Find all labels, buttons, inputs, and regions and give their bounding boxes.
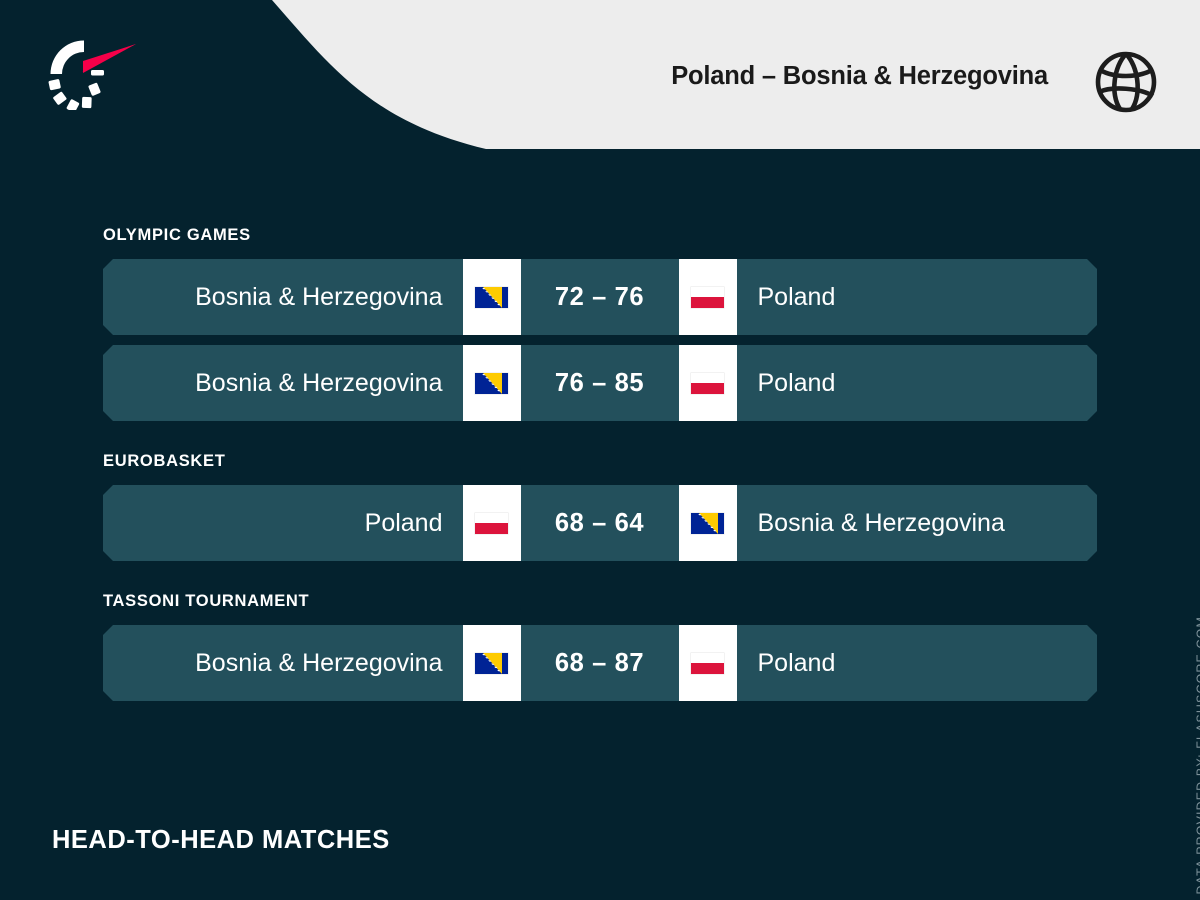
match-row[interactable]: Bosnia & Herzegovina xyxy=(103,259,1097,335)
match-score: 72 – 76 xyxy=(521,259,679,335)
section-eurobasket: EUROBASKET Poland 68 – 64 xyxy=(0,448,1200,561)
away-team: Poland xyxy=(737,625,1098,701)
section-rows: Bosnia & Herzegovina xyxy=(0,259,1200,421)
match-score: 68 – 87 xyxy=(521,625,679,701)
home-team: Bosnia & Herzegovina xyxy=(103,259,463,335)
page-title: Poland – Bosnia & Herzegovina xyxy=(671,0,1048,152)
home-flag-cell xyxy=(463,345,521,421)
away-team: Poland xyxy=(737,345,1098,421)
away-team-name: Poland xyxy=(758,648,836,679)
match-score: 76 – 85 xyxy=(521,345,679,421)
bosnia-herzegovina-flag xyxy=(475,373,508,394)
poland-flag xyxy=(691,287,724,308)
home-team-name: Bosnia & Herzegovina xyxy=(195,368,442,399)
away-team: Poland xyxy=(737,259,1098,335)
match-row[interactable]: Bosnia & Herzegovina xyxy=(103,345,1097,421)
page-header: Poland – Bosnia & Herzegovina xyxy=(0,0,1200,160)
home-flag-cell xyxy=(463,625,521,701)
match-score: 68 – 64 xyxy=(521,485,679,561)
footer-title: HEAD-TO-HEAD MATCHES xyxy=(52,826,390,855)
section-tassoni-tournament: TASSONI TOURNAMENT Bosnia & Herzegovina xyxy=(0,588,1200,701)
home-team: Poland xyxy=(103,485,463,561)
home-team-name: Bosnia & Herzegovina xyxy=(195,282,442,313)
basketball-icon xyxy=(1092,48,1160,116)
section-olympic-games: OLYMPIC GAMES Bosnia & Herzegovina xyxy=(0,222,1200,421)
home-flag-cell xyxy=(463,485,521,561)
poland-flag xyxy=(691,653,724,674)
away-flag-cell xyxy=(679,345,737,421)
flag-band-red xyxy=(691,383,724,394)
home-team-name: Bosnia & Herzegovina xyxy=(195,648,442,679)
poland-flag xyxy=(691,373,724,394)
away-flag-cell xyxy=(679,259,737,335)
away-flag-cell xyxy=(679,485,737,561)
section-label: TASSONI TOURNAMENT xyxy=(0,588,1200,614)
home-team: Bosnia & Herzegovina xyxy=(103,345,463,421)
section-label: OLYMPIC GAMES xyxy=(0,222,1200,248)
away-team: Bosnia & Herzegovina xyxy=(737,485,1098,561)
bosnia-herzegovina-flag xyxy=(475,287,508,308)
match-row[interactable]: Poland 68 – 64 xyxy=(103,485,1097,561)
match-row[interactable]: Bosnia & Herzegovina xyxy=(103,625,1097,701)
away-flag-cell xyxy=(679,625,737,701)
bosnia-herzegovina-flag xyxy=(691,513,724,534)
home-team-name: Poland xyxy=(365,508,443,539)
data-provider-credit: DATA PROVIDED BY: FLASHSCORE.COM xyxy=(1195,616,1200,895)
flashscore-logo xyxy=(44,38,140,110)
section-rows: Poland 68 – 64 xyxy=(0,485,1200,561)
away-team-name: Bosnia & Herzegovina xyxy=(758,508,1005,539)
flag-band-red xyxy=(475,523,508,534)
home-team: Bosnia & Herzegovina xyxy=(103,625,463,701)
away-team-name: Poland xyxy=(758,282,836,313)
section-rows: Bosnia & Herzegovina xyxy=(0,625,1200,701)
head-to-head-list: OLYMPIC GAMES Bosnia & Herzegovina xyxy=(0,160,1200,701)
poland-flag xyxy=(475,513,508,534)
home-flag-cell xyxy=(463,259,521,335)
section-label: EUROBASKET xyxy=(0,448,1200,474)
away-team-name: Poland xyxy=(758,368,836,399)
bosnia-herzegovina-flag xyxy=(475,653,508,674)
flag-band-red xyxy=(691,297,724,308)
flag-band-red xyxy=(691,663,724,674)
